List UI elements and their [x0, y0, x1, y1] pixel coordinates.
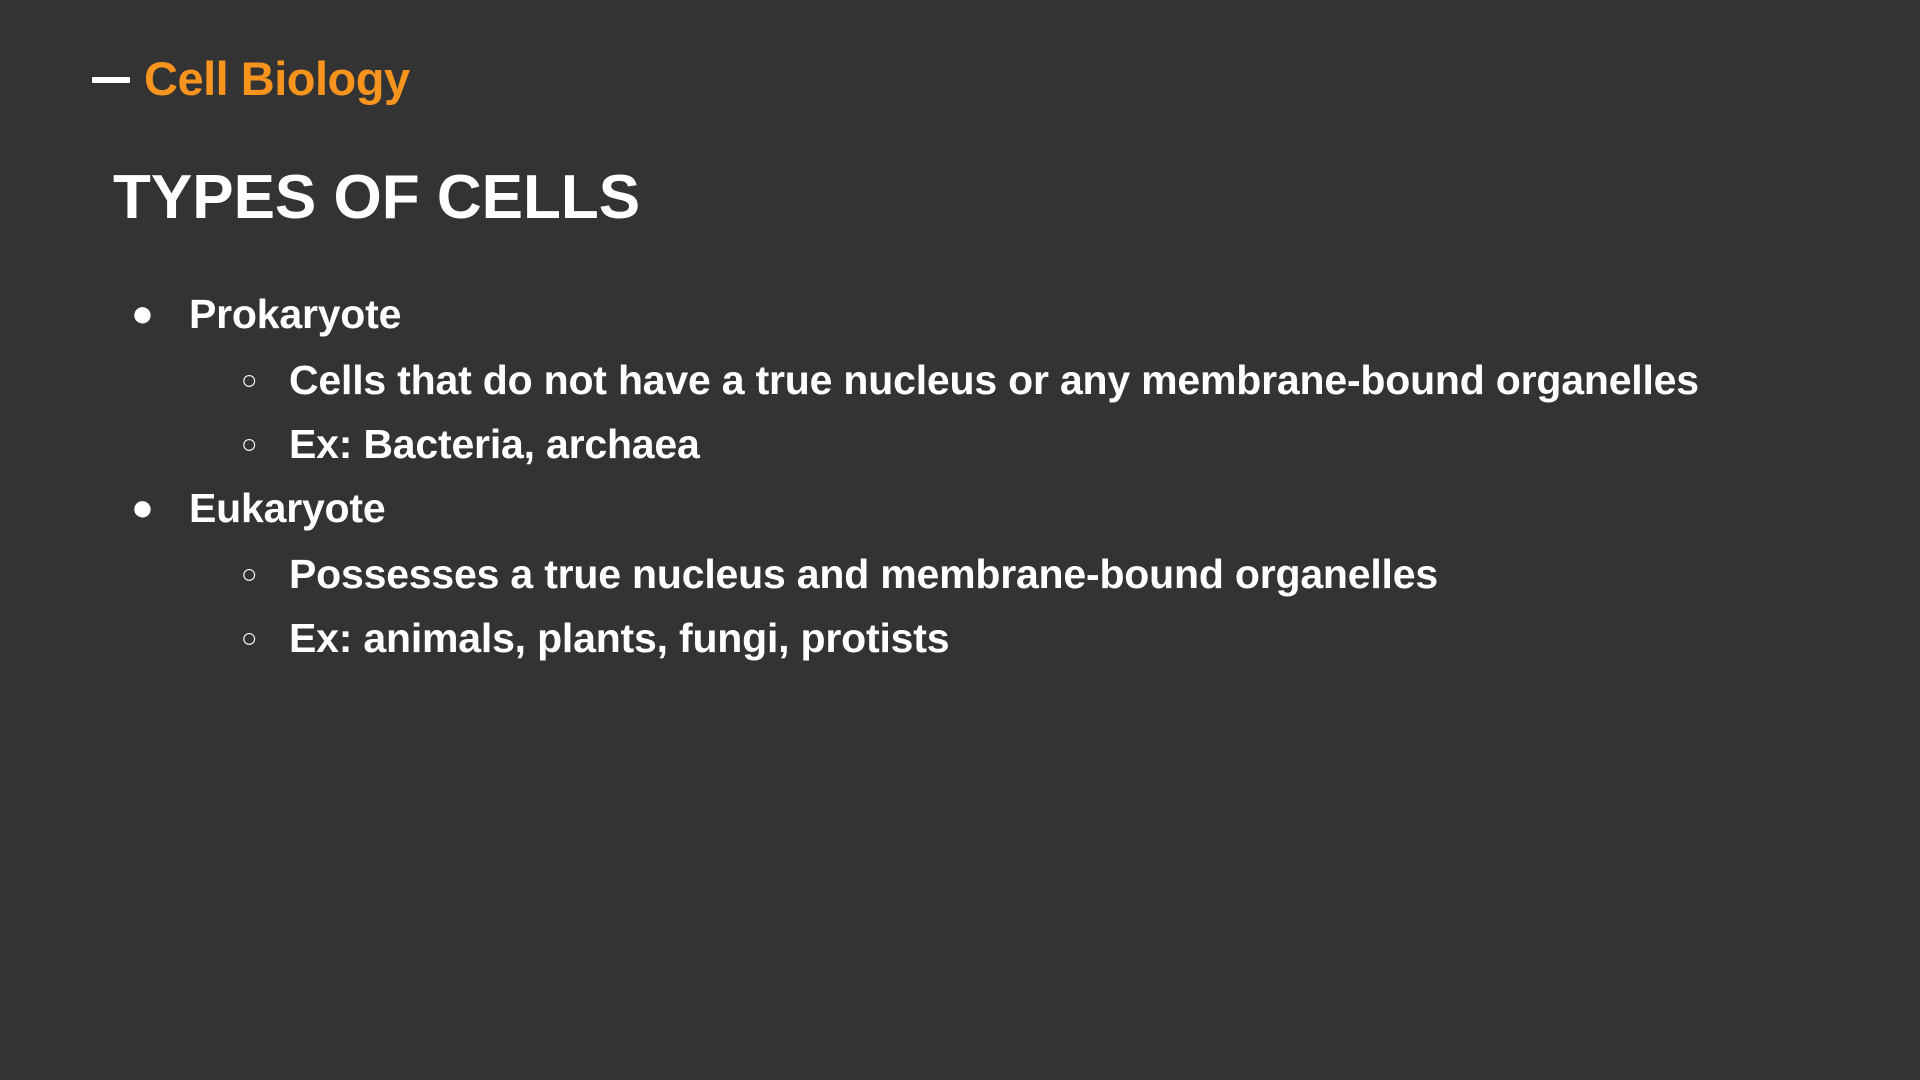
- content-bullet-list: ● Prokaryote ○ Cells that do not have a …: [113, 282, 1813, 670]
- list-item-label: Cells that do not have a true nucleus or…: [289, 348, 1699, 412]
- list-item: ○ Cells that do not have a true nucleus …: [213, 348, 1813, 412]
- list-item-label: Eukaryote: [189, 476, 385, 540]
- section-header: Cell Biology: [92, 48, 410, 108]
- list-item: ● Prokaryote: [113, 282, 1813, 346]
- sub-bullet-list: ○ Possesses a true nucleus and membrane-…: [113, 542, 1813, 670]
- list-item-label: Prokaryote: [189, 282, 401, 346]
- list-item: ○ Ex: Bacteria, archaea: [213, 412, 1813, 476]
- bullet-hollow-icon: ○: [213, 348, 289, 412]
- page-title: TYPES OF CELLS: [113, 167, 640, 229]
- bullet-group: ● Eukaryote ○ Possesses a true nucleus a…: [113, 476, 1813, 670]
- list-item: ○ Possesses a true nucleus and membrane-…: [213, 542, 1813, 606]
- bullet-hollow-icon: ○: [213, 606, 289, 670]
- bullet-hollow-icon: ○: [213, 412, 289, 476]
- bullet-hollow-icon: ○: [213, 542, 289, 606]
- sub-bullet-list: ○ Cells that do not have a true nucleus …: [113, 348, 1813, 476]
- em-dash-icon: [92, 77, 130, 83]
- list-item: ○ Ex: animals, plants, fungi, protists: [213, 606, 1813, 670]
- bullet-filled-icon: ●: [113, 282, 189, 346]
- bullet-group: ● Prokaryote ○ Cells that do not have a …: [113, 282, 1813, 476]
- slide-canvas: Cell Biology TYPES OF CELLS ● Prokaryote…: [0, 0, 1920, 1080]
- bullet-filled-icon: ●: [113, 476, 189, 540]
- list-item-label: Ex: animals, plants, fungi, protists: [289, 606, 949, 670]
- list-item: ● Eukaryote: [113, 476, 1813, 540]
- list-item-label: Ex: Bacteria, archaea: [289, 412, 700, 476]
- list-item-label: Possesses a true nucleus and membrane-bo…: [289, 542, 1438, 606]
- section-label: Cell Biology: [144, 55, 410, 102]
